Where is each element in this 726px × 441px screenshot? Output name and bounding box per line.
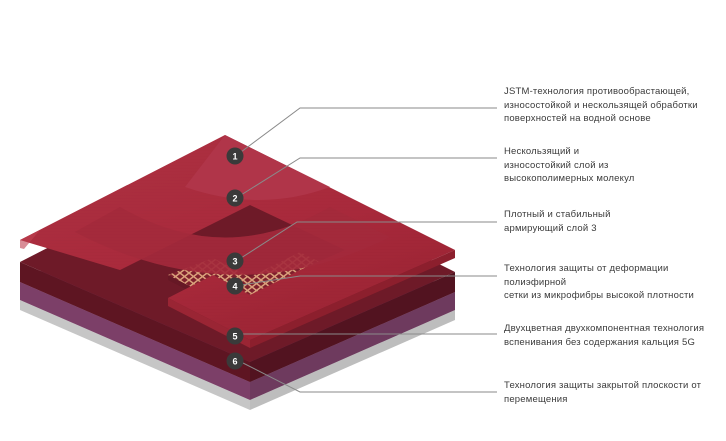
marker-4-label: 4 (232, 282, 237, 292)
diagram-canvas: 1 2 3 4 5 6 JSTM-техноло (0, 0, 726, 441)
callout-text-6: Технология защиты закрытой плоскости от … (504, 379, 719, 406)
callout-text-5: Двухцветная двухкомпонентная технология … (504, 322, 719, 349)
marker-2[interactable]: 2 (227, 190, 244, 207)
marker-5[interactable]: 5 (227, 328, 244, 345)
leader-line-1 (241, 108, 497, 152)
marker-6[interactable]: 6 (227, 353, 244, 370)
callout-text-3: Плотный и стабильный армирующий слой 3 (504, 208, 719, 235)
marker-2-label: 2 (232, 194, 237, 204)
marker-6-label: 6 (232, 357, 237, 367)
marker-3[interactable]: 3 (227, 253, 244, 270)
marker-5-label: 5 (232, 332, 237, 342)
callout-text-2: Нескользящий и износостойкий слой из выс… (504, 145, 719, 186)
marker-1-label: 1 (232, 152, 237, 162)
callout-text-1: JSTM-технология противообрастающей, изно… (504, 85, 719, 126)
callout-text-4: Технология защиты от деформации полиэфир… (504, 262, 726, 303)
marker-1[interactable]: 1 (227, 148, 244, 165)
marker-4[interactable]: 4 (227, 278, 244, 295)
marker-3-label: 3 (232, 257, 237, 267)
